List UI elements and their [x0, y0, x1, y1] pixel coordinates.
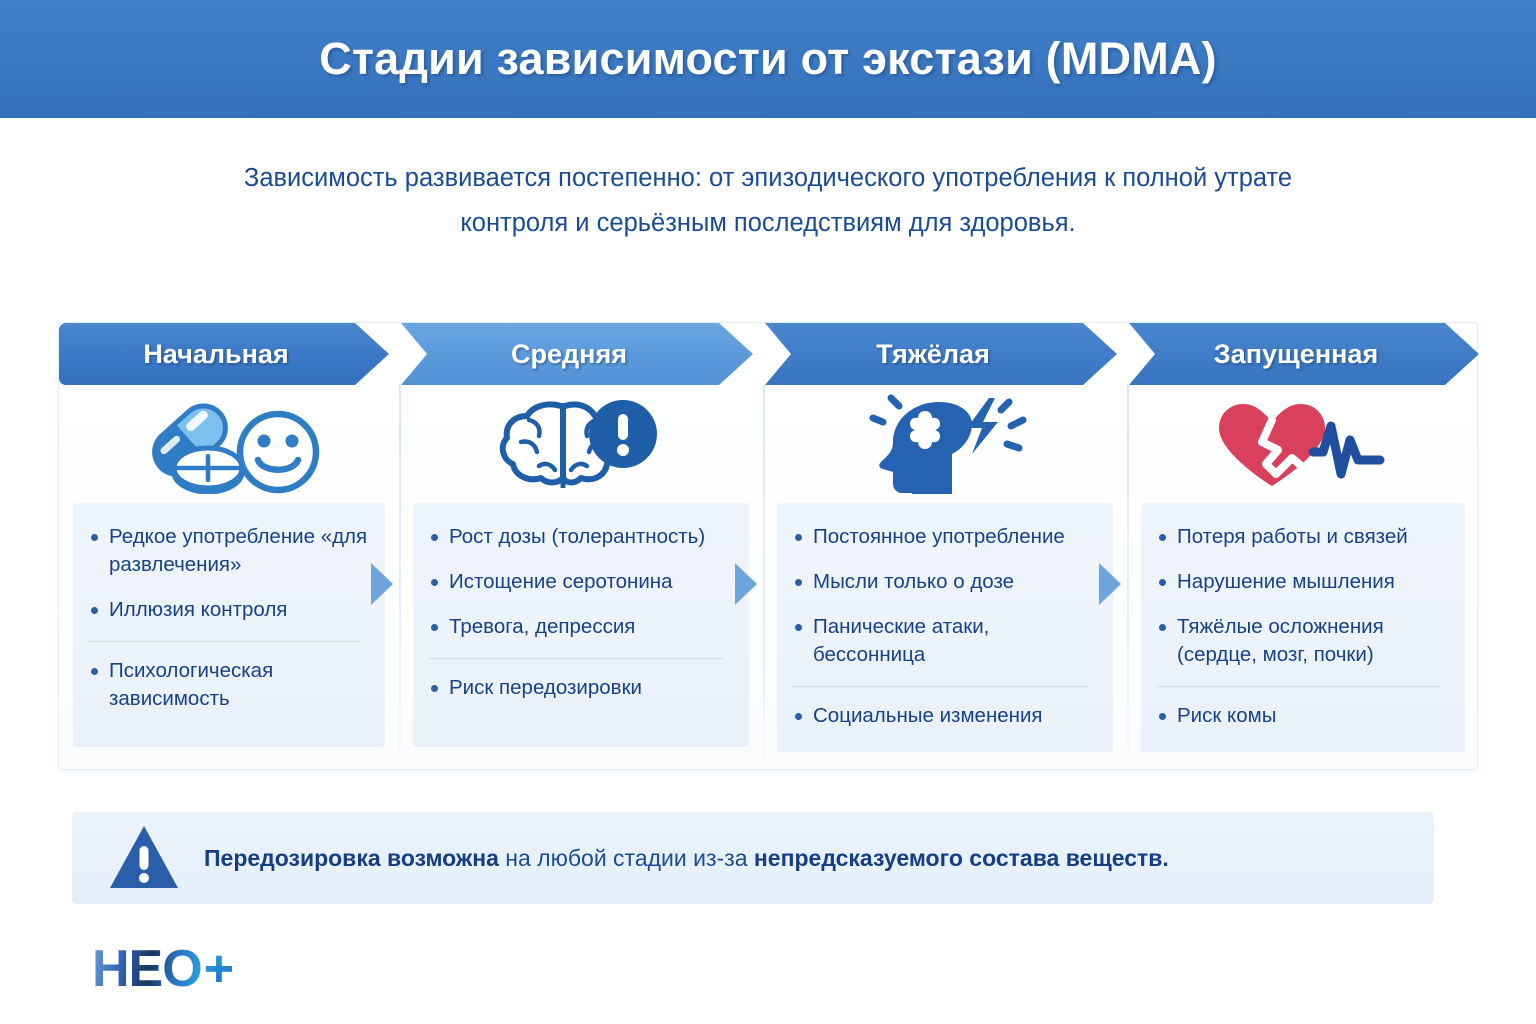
list-item: Психологическая зависимость — [85, 641, 369, 713]
stage-label: Начальная — [143, 339, 288, 370]
chevron-row: Начальная Средняя Тяжёлая Запущенная — [59, 323, 1479, 385]
list-item: Риск передозировки — [425, 658, 733, 702]
list-item: Потеря работы и связей — [1153, 523, 1449, 551]
stage-chevron-zapushchennaya[interactable]: Запущенная — [1129, 323, 1479, 385]
warning-bold-end: непредсказуемого состава веществ. — [754, 845, 1169, 871]
stage-label: Запущенная — [1214, 339, 1378, 370]
warning-bold-start: Передозировка возможна — [204, 845, 499, 871]
stage-chevron-srednyaya[interactable]: Средняя — [401, 323, 753, 385]
stage-chevron-tyazhelaya[interactable]: Тяжёлая — [765, 323, 1117, 385]
stage-bullet-box-4: Потеря работы и связей Нарушение мышлени… — [1141, 503, 1465, 752]
stage-icon-area-4 — [1127, 385, 1479, 503]
list-item: Рост дозы (толерантность) — [425, 523, 733, 551]
broken-heart-ecg-icon — [1203, 394, 1403, 494]
list-item: Истощение серотонина — [425, 568, 733, 596]
warning-triangle-icon — [108, 822, 180, 894]
stage-bullet-list-4: Потеря работы и связей Нарушение мышлени… — [1153, 523, 1449, 730]
list-item: Редкое употребление «для развлечения» — [85, 523, 369, 579]
page-title: Стадии зависимости от экстази (MDMA) — [319, 33, 1217, 85]
list-item: Риск комы — [1153, 686, 1449, 730]
stages-panel: Начальная Средняя Тяжёлая Запущенная — [58, 322, 1478, 770]
stage-column-1: Редкое употребление «для развлечения» Ил… — [59, 385, 399, 771]
stage-bullet-box-3: Постоянное употребление Мысли только о д… — [777, 503, 1113, 752]
stage-chevron-nachalnaya[interactable]: Начальная — [59, 323, 389, 385]
stage-flow-arrow-2 — [735, 563, 757, 605]
stage-flow-arrow-1 — [371, 563, 393, 605]
list-item: Иллюзия контроля — [85, 596, 369, 624]
warning-banner: Передозировка возможна на любой стадии и… — [72, 812, 1434, 904]
list-item: Нарушение мышления — [1153, 568, 1449, 596]
list-item: Постоянное употребление — [789, 523, 1097, 551]
logo-plus-icon: + — [204, 943, 234, 995]
warning-text: Передозировка возможна на любой стадии и… — [204, 843, 1169, 873]
stage-icon-area-2 — [399, 385, 763, 503]
list-item: Тяжёлые осложнения (сердце, мозг, почки) — [1153, 613, 1449, 669]
logo: НЕО + — [92, 936, 352, 1002]
subtitle-line-2: контроля и серьёзным последствиям для зд… — [168, 201, 1368, 246]
stage-bullet-list-1: Редкое употребление «для развлечения» Ил… — [85, 523, 369, 713]
stage-column-3: Постоянное употребление Мысли только о д… — [763, 385, 1127, 771]
stage-label: Тяжёлая — [876, 339, 990, 370]
subtitle-line-1: Зависимость развивается постепенно: от э… — [168, 156, 1368, 201]
list-item: Социальные изменения — [789, 686, 1097, 730]
list-item: Мысли только о дозе — [789, 568, 1097, 596]
stage-flow-arrow-3 — [1099, 563, 1121, 605]
stage-bullet-list-3: Постоянное употребление Мысли только о д… — [789, 523, 1097, 730]
stage-icon-area-1 — [59, 385, 399, 503]
list-item: Тревога, депрессия — [425, 613, 733, 641]
subtitle: Зависимость развивается постепенно: от э… — [168, 156, 1368, 246]
stage-bullet-list-2: Рост дозы (толерантность) Истощение серо… — [425, 523, 733, 702]
pills-smiley-icon — [134, 394, 324, 494]
stage-bullet-box-2: Рост дозы (толерантность) Истощение серо… — [413, 503, 749, 747]
brain-alert-icon — [491, 394, 671, 494]
stage-column-2: Рост дозы (толерантность) Истощение серо… — [399, 385, 763, 771]
header-bar: Стадии зависимости от экстази (MDMA) — [0, 0, 1536, 118]
stage-icon-area-3 — [763, 385, 1127, 503]
list-item: Панические атаки, бессонница — [789, 613, 1097, 669]
stage-column-4: Потеря работы и связей Нарушение мышлени… — [1127, 385, 1479, 771]
warning-middle: на любой стадии из-за — [499, 845, 754, 871]
stage-label: Средняя — [511, 339, 627, 370]
stage-bullet-box-1: Редкое употребление «для развлечения» Ил… — [73, 503, 385, 747]
logo-text: НЕО — [92, 943, 202, 995]
head-puzzle-lightning-icon — [855, 394, 1035, 494]
